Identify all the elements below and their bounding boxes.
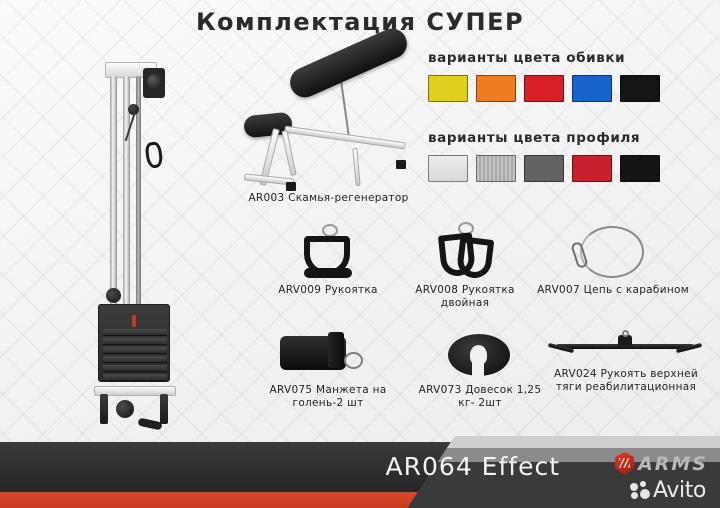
weight-plate: [103, 347, 167, 354]
product-figure-machine: [60, 42, 190, 412]
swatch-profile-dark-gray[interactable]: [524, 155, 564, 182]
swatch-profile-red[interactable]: [572, 155, 612, 182]
chain-links: [580, 226, 644, 278]
ankle-cuff-caption: ARV075 Манжета на голень-2 шт: [248, 384, 408, 409]
handle-double-illustration: [392, 222, 538, 284]
bench-support-strut: [340, 78, 351, 140]
lat-bar-caption: ARV024 Рукоять верхней тяги реабилитацио…: [546, 368, 706, 393]
pulley-lower: [116, 400, 134, 418]
product-figure-lat-bar: ARV024 Рукоять верхней тяги реабилитацио…: [546, 326, 706, 393]
cable-machine-illustration: [60, 42, 190, 412]
lower-handle: [137, 418, 162, 431]
product-figure-chain: ARV007 Цепь с карабином: [536, 222, 690, 297]
brand-logo: ARMS: [615, 452, 708, 475]
weight-slot: [472, 356, 484, 378]
footer-bar: AR064 Effect ARMS Avito: [0, 436, 720, 508]
weight-selector-pin: [132, 315, 136, 327]
avito-watermark: Avito: [630, 478, 706, 503]
weight-disc: [448, 334, 510, 376]
arms-shield-icon: [615, 452, 634, 475]
bench-foot-cap-front: [286, 182, 296, 191]
upholstery-heading: варианты цвета обивки: [428, 50, 660, 66]
handle-single-caption: ARV009 Рукоятка: [258, 284, 398, 297]
chain-illustration: [536, 222, 690, 284]
bench-frame-rail: [284, 126, 406, 150]
addon-weight-caption: ARV073 Довесок 1,25 кг- 2шт: [412, 384, 548, 409]
top-pulley-housing: [143, 68, 165, 98]
bench-caption: AR003 Скамья-регенератор: [226, 192, 431, 205]
pulley-mid: [106, 288, 121, 303]
avito-label: Avito: [653, 478, 706, 503]
base-foot-left: [100, 394, 108, 424]
product-figure-handle-double: ARV008 Рукоятка двойная: [392, 222, 538, 309]
lat-bar-ring: [622, 330, 629, 337]
product-figure-addon-weight: ARV073 Довесок 1,25 кг- 2шт: [412, 326, 548, 409]
swatch-profile-white[interactable]: [428, 155, 468, 182]
swatch-upholstery-blue[interactable]: [572, 75, 612, 102]
product-spec-page: Комплектация СУПЕР: [0, 0, 720, 508]
swatch-upholstery-red[interactable]: [524, 75, 564, 102]
product-figure-handle-single: ARV009 Рукоятка: [258, 222, 398, 297]
upholstery-color-options: варианты цвета обивки: [428, 50, 660, 102]
weight-plate: [103, 356, 167, 363]
profile-color-options: варианты цвета профиля: [428, 130, 660, 182]
base-foot-right: [160, 394, 168, 424]
avito-dots-icon: [630, 481, 650, 500]
product-figure-bench: AR003 Скамья-регенератор: [226, 42, 431, 205]
addon-weight-illustration: [412, 326, 548, 384]
bench-foot-cap-rear: [396, 160, 406, 169]
profile-swatch-row: [428, 155, 660, 182]
d-ring-icon: [344, 352, 363, 369]
handle-grip: [304, 268, 352, 278]
swatch-upholstery-black[interactable]: [620, 75, 660, 102]
page-title: Комплектация СУПЕР: [0, 8, 720, 36]
ankle-cuff-illustration: [248, 326, 408, 384]
chain-caption: ARV007 Цепь с карабином: [536, 284, 690, 297]
swatch-upholstery-orange[interactable]: [476, 75, 516, 102]
weight-plate: [103, 329, 167, 336]
handle-single-illustration: [258, 222, 398, 284]
weight-plate: [103, 365, 167, 372]
tower-rail-left: [110, 76, 117, 318]
attached-handle: [144, 141, 163, 169]
lat-bar-group: [556, 330, 696, 358]
swatch-profile-silver[interactable]: [476, 155, 516, 182]
footer-accent-stripe: [0, 492, 470, 508]
swatch-profile-black[interactable]: [620, 155, 660, 182]
weight-stack: [98, 304, 170, 382]
product-figure-ankle-cuff: ARV075 Манжета на голень-2 шт: [248, 326, 408, 409]
model-title: AR064 Effect: [0, 452, 560, 481]
swatch-upholstery-yellow[interactable]: [428, 75, 468, 102]
profile-heading: варианты цвета профиля: [428, 130, 660, 146]
weight-plate: [103, 374, 167, 381]
handle-double-caption: ARV008 Рукоятка двойная: [392, 284, 538, 309]
bench-frame-leg-brace: [281, 130, 296, 176]
weight-plate: [103, 338, 167, 345]
lat-bar-illustration: [546, 326, 706, 368]
brand-name: ARMS: [638, 453, 708, 475]
bench-illustration: [226, 42, 421, 192]
upholstery-swatch-row: [428, 75, 660, 102]
cuff-strap: [328, 332, 344, 368]
bench-frame-leg-rear: [352, 148, 360, 186]
